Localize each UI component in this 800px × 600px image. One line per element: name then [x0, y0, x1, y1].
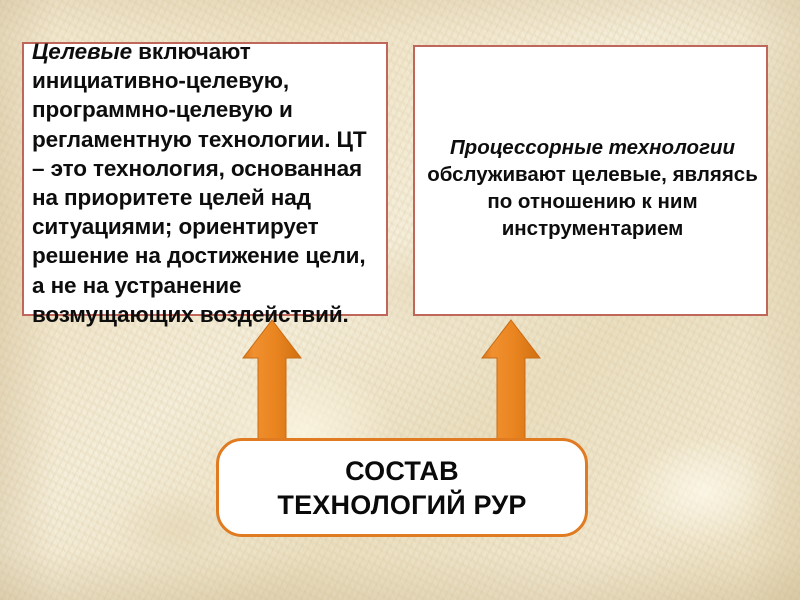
rounded-box-composition-title[interactable]: СОСТАВ ТЕХНОЛОГИЙ РУР: [216, 438, 588, 537]
arrow-up-left-icon: [241, 318, 303, 444]
composition-title-text: СОСТАВ ТЕХНОЛОГИЙ РУР: [277, 454, 526, 522]
arrow-up-right-icon: [480, 318, 542, 444]
processor-technologies-body: обслуживают целевые, являясь по отношени…: [427, 163, 758, 240]
target-technologies-text: Целевые включают инициативно-целевую, пр…: [32, 37, 382, 329]
text-box-target-technologies[interactable]: Целевые включают инициативно-целевую, пр…: [22, 42, 388, 316]
target-technologies-body: включают инициативно-целевую, программно…: [32, 39, 367, 327]
processor-technologies-lead: Процессорные технологии: [425, 134, 760, 161]
slide-canvas: Целевые включают инициативно-целевую, пр…: [0, 0, 800, 600]
text-box-processor-technologies[interactable]: Процессорные технологииобслуживают целев…: [413, 45, 768, 316]
target-technologies-lead: Целевые: [32, 39, 132, 64]
processor-technologies-text: Процессорные технологииобслуживают целев…: [425, 134, 760, 242]
